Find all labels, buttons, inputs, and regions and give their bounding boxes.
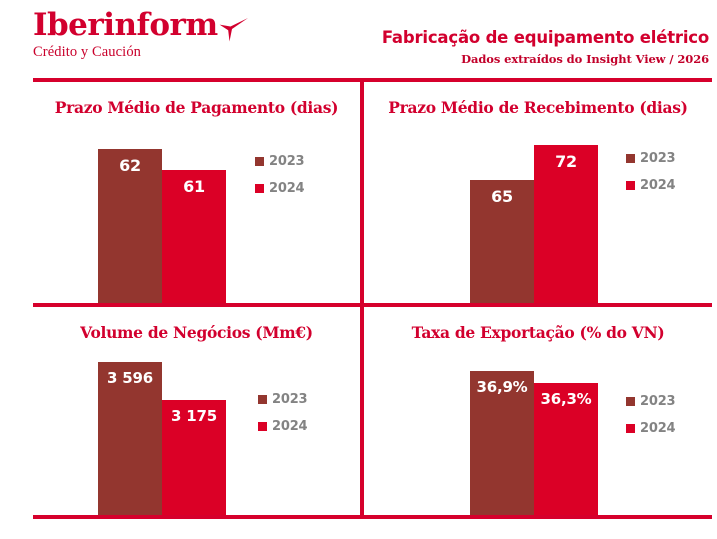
swoosh-checkmark-icon — [219, 17, 249, 43]
chart-plot: 65 72 2023 2024 — [364, 135, 712, 303]
legend-swatch-2024-icon — [626, 424, 635, 433]
legend-item-2023: 2023 — [258, 393, 307, 406]
bar-2024: 72 — [534, 145, 598, 303]
legend-swatch-2023-icon — [626, 397, 635, 406]
chart-panel-prazo-medio-recebimento: Prazo Médio de Recebimento (dias) 65 72 … — [364, 82, 712, 303]
legend-swatch-2024-icon — [255, 184, 264, 193]
legend-swatch-2023-icon — [255, 157, 264, 166]
legend-label-2024: 2024 — [269, 182, 304, 195]
legend-item-2024: 2024 — [258, 420, 307, 433]
legend-label-2024: 2024 — [272, 420, 307, 433]
bar-value-2024: 36,3% — [534, 390, 598, 408]
legend-label-2024: 2024 — [640, 422, 675, 435]
legend-label-2023: 2023 — [640, 395, 675, 408]
legend-swatch-2024-icon — [258, 422, 267, 431]
bar-2023: 62 — [98, 149, 162, 303]
chart-panel-taxa-de-exportacao: Taxa de Exportação (% do VN) 36,9% 36,3%… — [364, 307, 712, 515]
chart-title: Taxa de Exportação (% do VN) — [364, 323, 712, 342]
bar-value-2023: 62 — [98, 156, 162, 175]
bar-2024: 61 — [162, 170, 226, 303]
chart-legend: 2023 2024 — [255, 155, 304, 195]
chart-plot: 62 61 2023 2024 — [33, 135, 360, 303]
bar-2023: 3 596 — [98, 362, 162, 515]
divider-bottom — [33, 515, 712, 519]
infographic-canvas: Iberinform Crédito y Caución Fabricação … — [0, 0, 717, 539]
legend-item-2023: 2023 — [626, 395, 675, 408]
legend-label-2023: 2023 — [272, 393, 307, 406]
bar-value-2023: 3 596 — [98, 369, 162, 387]
chart-title: Volume de Negócios (Mm€) — [33, 323, 360, 342]
legend-label-2024: 2024 — [640, 179, 675, 192]
legend-swatch-2023-icon — [626, 154, 635, 163]
legend-item-2024: 2024 — [626, 179, 675, 192]
bar-value-2023: 65 — [470, 187, 534, 206]
legend-item-2023: 2023 — [626, 152, 675, 165]
legend-swatch-2023-icon — [258, 395, 267, 404]
report-subtitle: Dados extraídos do Insight View / 2026 — [289, 51, 709, 67]
chart-legend: 2023 2024 — [626, 395, 675, 435]
bar-value-2023: 36,9% — [470, 378, 534, 396]
legend-item-2024: 2024 — [626, 422, 675, 435]
bar-2023: 36,9% — [470, 371, 534, 515]
bar-value-2024: 3 175 — [162, 407, 226, 425]
chart-title: Prazo Médio de Pagamento (dias) — [33, 98, 360, 117]
legend-item-2024: 2024 — [255, 182, 304, 195]
chart-legend: 2023 2024 — [258, 393, 307, 433]
legend-label-2023: 2023 — [269, 155, 304, 168]
legend-swatch-2024-icon — [626, 181, 635, 190]
chart-plot: 3 596 3 175 2023 2024 — [33, 360, 360, 515]
bar-value-2024: 72 — [534, 152, 598, 171]
chart-panel-volume-de-negocios: Volume de Negócios (Mm€) 3 596 3 175 202… — [33, 307, 360, 515]
chart-title: Prazo Médio de Recebimento (dias) — [364, 98, 712, 117]
bar-2024: 36,3% — [534, 383, 598, 515]
legend-item-2023: 2023 — [255, 155, 304, 168]
chart-legend: 2023 2024 — [626, 152, 675, 192]
report-title: Fabricação de equipamento elétrico — [289, 28, 709, 48]
chart-panel-prazo-medio-pagamento: Prazo Médio de Pagamento (dias) 62 61 20… — [33, 82, 360, 303]
report-header: Fabricação de equipamento elétrico Dados… — [289, 28, 709, 67]
brand-logo: Iberinform Crédito y Caución — [33, 8, 333, 61]
brand-tagline: Crédito y Caución — [33, 43, 333, 61]
bar-2023: 65 — [470, 180, 534, 303]
bar-value-2024: 61 — [162, 177, 226, 196]
legend-label-2023: 2023 — [640, 152, 675, 165]
bar-2024: 3 175 — [162, 400, 226, 515]
chart-plot: 36,9% 36,3% 2023 2024 — [364, 360, 712, 515]
brand-name: Iberinform — [33, 8, 218, 42]
